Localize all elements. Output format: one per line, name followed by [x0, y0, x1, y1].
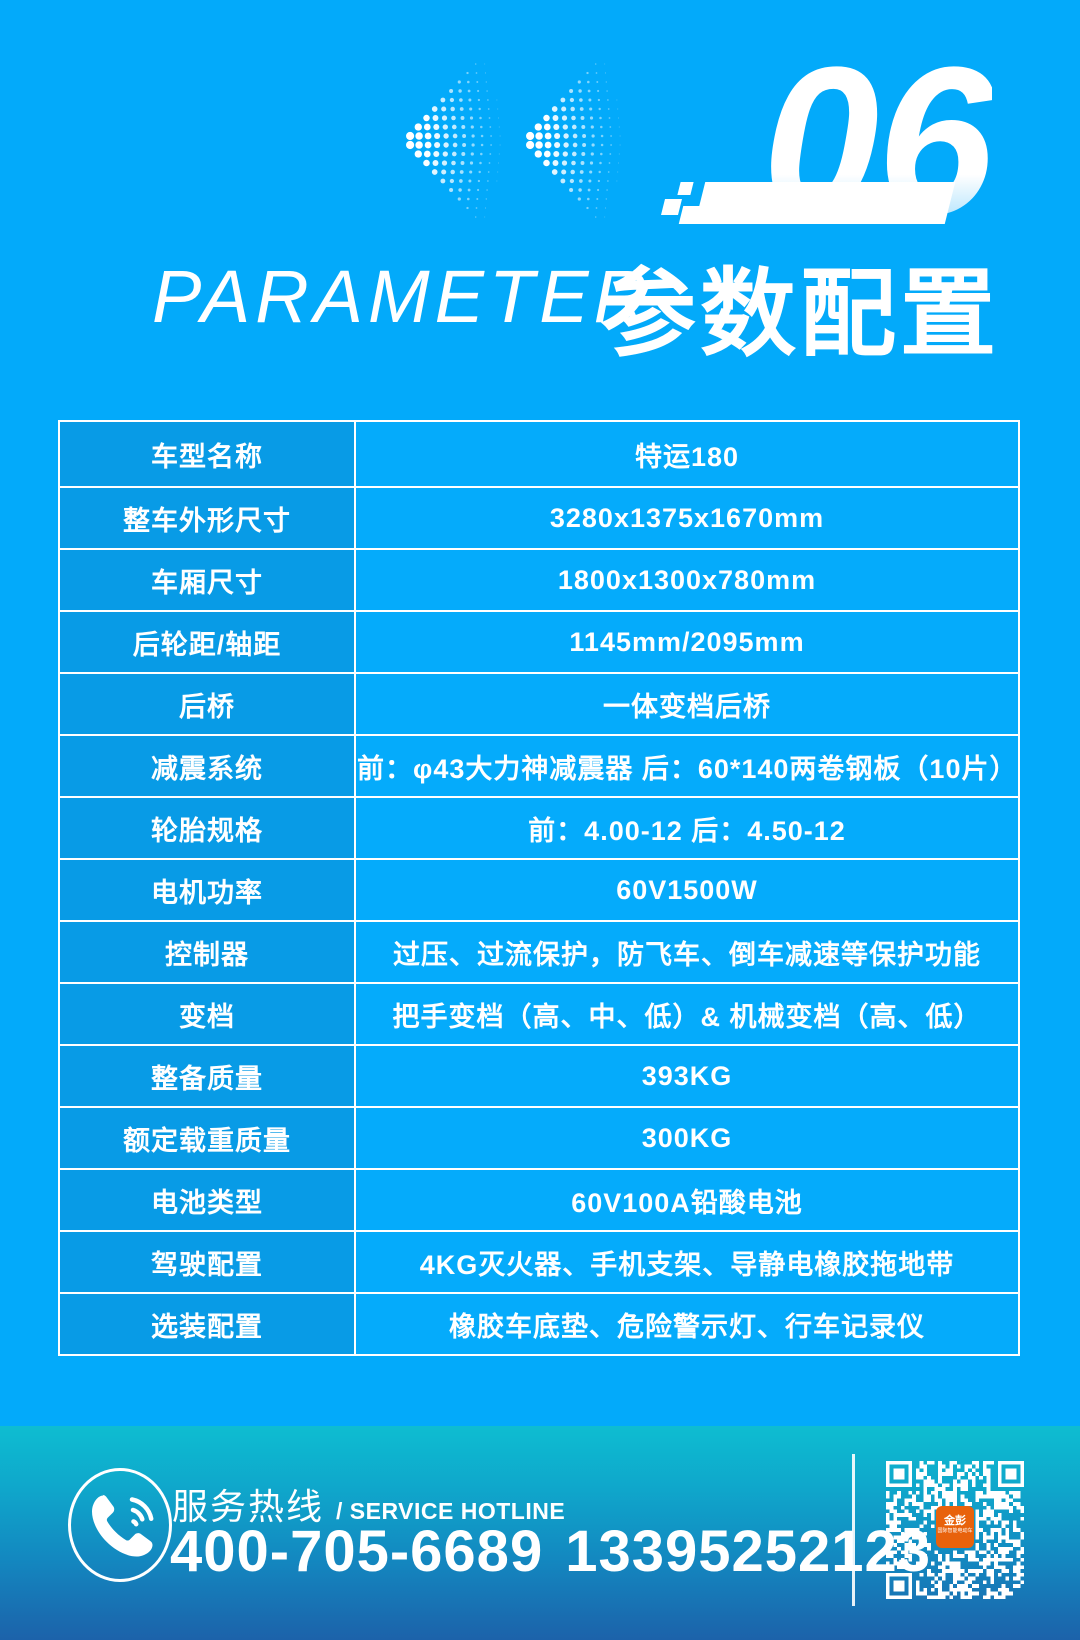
hotline-numbers: 400-705-668913395252123 — [170, 1518, 931, 1585]
table-row: 额定载重质量300KG — [59, 1107, 1019, 1169]
spec-value: 1800x1300x780mm — [355, 549, 1019, 611]
spec-value: 393KG — [355, 1045, 1019, 1107]
spec-value: 橡胶车底垫、危险警示灯、行车记录仪 — [355, 1293, 1019, 1355]
table-row: 变档把手变档（高、中、低）& 机械变档（高、低） — [59, 983, 1019, 1045]
qr-logo-sub: 国际智能电动车 — [936, 1529, 974, 1535]
phone-primary: 400-705-6689 — [170, 1519, 543, 1584]
spec-label: 后桥 — [59, 673, 355, 735]
title-english: PARAMETER — [152, 254, 652, 339]
phone-icon — [85, 1491, 161, 1565]
table-row: 轮胎规格前：4.00-12 后：4.50-12 — [59, 797, 1019, 859]
table-row: 电机功率60V1500W — [59, 859, 1019, 921]
spec-value: 把手变档（高、中、低）& 机械变档（高、低） — [355, 983, 1019, 1045]
table-row: 驾驶配置4KG灭火器、手机支架、导静电橡胶拖地带 — [59, 1231, 1019, 1293]
spec-label: 轮胎规格 — [59, 797, 355, 859]
spec-value: 1145mm/2095mm — [355, 611, 1019, 673]
spec-label: 车厢尺寸 — [59, 549, 355, 611]
table-row: 后桥一体变档后桥 — [59, 673, 1019, 735]
spec-label: 电机功率 — [59, 859, 355, 921]
spec-label: 控制器 — [59, 921, 355, 983]
spec-value: 过压、过流保护，防飞车、倒车减速等保护功能 — [355, 921, 1019, 983]
table-row: 整车外形尺寸3280x1375x1670mm — [59, 487, 1019, 549]
poster-header: 06 PARAMETER 参数配置 — [0, 0, 1080, 400]
qr-center-logo: 金彭 国际智能电动车 — [936, 1506, 974, 1548]
parameter-poster: 06 PARAMETER 参数配置 车型名称特运180整车外形尺寸3280x13… — [0, 0, 1080, 1640]
spec-label: 驾驶配置 — [59, 1231, 355, 1293]
spec-value: 一体变档后桥 — [355, 673, 1019, 735]
spec-label: 额定载重质量 — [59, 1107, 355, 1169]
table-row: 减震系统前：φ43大力神减震器 后：60*140两卷钢板（10片） — [59, 735, 1019, 797]
spec-value: 4KG灭火器、手机支架、导静电橡胶拖地带 — [355, 1231, 1019, 1293]
spec-label: 车型名称 — [59, 421, 355, 487]
spec-label: 后轮距/轴距 — [59, 611, 355, 673]
spec-value: 特运180 — [355, 421, 1019, 487]
table-row: 车型名称特运180 — [59, 421, 1019, 487]
table-row: 电池类型60V100A铅酸电池 — [59, 1169, 1019, 1231]
title-chinese: 参数配置 — [600, 236, 1000, 375]
poster-title: PARAMETER 参数配置 — [0, 248, 1080, 358]
spec-label: 减震系统 — [59, 735, 355, 797]
spec-label: 整备质量 — [59, 1045, 355, 1107]
spec-value: 3280x1375x1670mm — [355, 487, 1019, 549]
spec-value: 60V1500W — [355, 859, 1019, 921]
spec-value: 前：φ43大力神减震器 后：60*140两卷钢板（10片） — [355, 735, 1019, 797]
qr-code[interactable]: 金彭 国际智能电动车 — [886, 1456, 1024, 1604]
spec-label: 电池类型 — [59, 1169, 355, 1231]
spec-label: 变档 — [59, 983, 355, 1045]
spec-label: 选装配置 — [59, 1293, 355, 1355]
header-accent-bar — [695, 182, 955, 224]
spec-value: 60V100A铅酸电池 — [355, 1169, 1019, 1231]
table-row: 车厢尺寸1800x1300x780mm — [59, 549, 1019, 611]
qr-logo-text: 金彭 — [944, 1515, 966, 1527]
spec-value: 前：4.00-12 后：4.50-12 — [355, 797, 1019, 859]
table-row: 控制器过压、过流保护，防飞车、倒车减速等保护功能 — [59, 921, 1019, 983]
phone-secondary: 13395252123 — [565, 1519, 931, 1584]
poster-footer: 服务热线/ SERVICE HOTLINE 400-705-6689133952… — [0, 1426, 1080, 1640]
spec-value: 300KG — [355, 1107, 1019, 1169]
specification-table: 车型名称特运180整车外形尺寸3280x1375x1670mm车厢尺寸1800x… — [58, 420, 1020, 1356]
table-row: 选装配置橡胶车底垫、危险警示灯、行车记录仪 — [59, 1293, 1019, 1355]
footer-divider — [852, 1454, 855, 1606]
phone-icon-circle — [68, 1468, 172, 1582]
spec-label: 整车外形尺寸 — [59, 487, 355, 549]
table-row: 后轮距/轴距1145mm/2095mm — [59, 611, 1019, 673]
table-row: 整备质量393KG — [59, 1045, 1019, 1107]
